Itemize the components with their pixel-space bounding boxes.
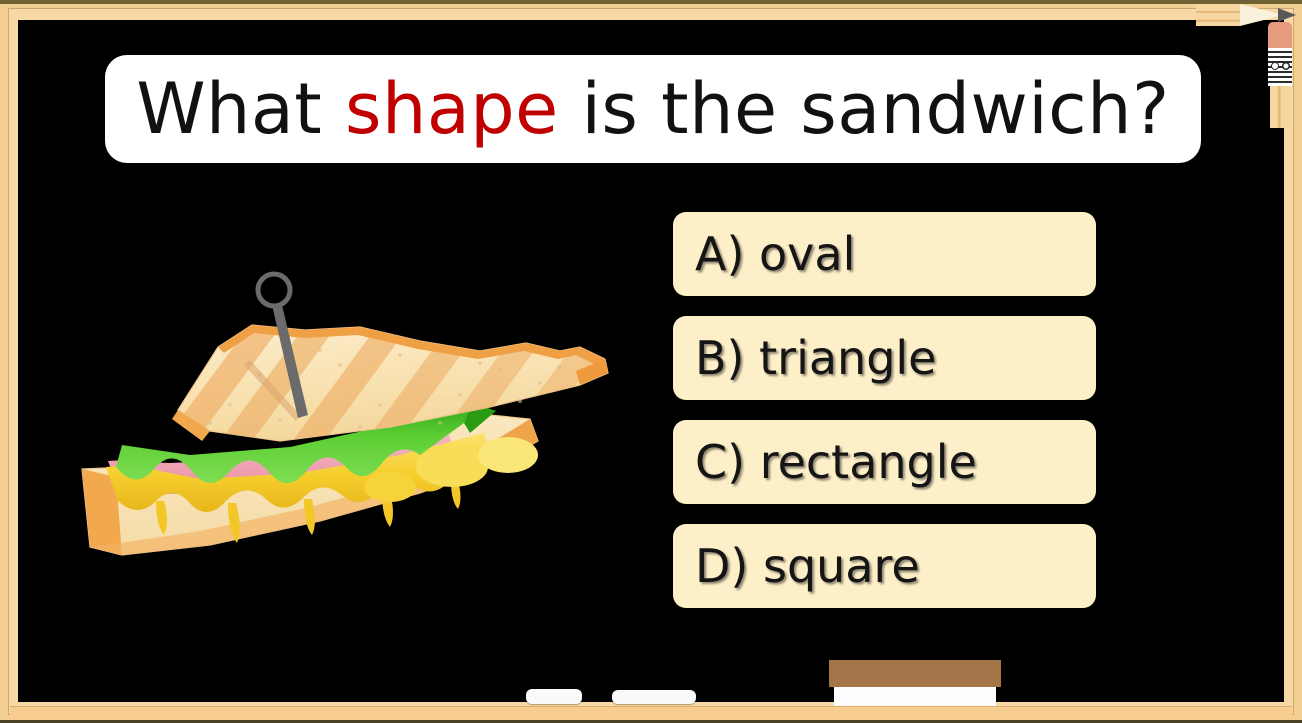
answer-option-c[interactable]: C) rectangle: [673, 420, 1096, 504]
answer-option-b-label: B) triangle: [695, 335, 936, 381]
frame-top-edge: [0, 0, 1302, 4]
board-eraser[interactable]: [829, 660, 1001, 706]
pencil-graphite-tip: [1278, 8, 1296, 22]
chalk-ledge: [10, 706, 1292, 720]
answer-option-c-label: C) rectangle: [695, 439, 977, 485]
question-text: What shape is the sandwich?: [136, 74, 1169, 144]
answer-option-b[interactable]: B) triangle: [673, 316, 1096, 400]
pencil-barrel: [1196, 4, 1240, 26]
eraser-wood-block: [829, 660, 1001, 687]
quiz-slide: What shape is the sandwich?: [0, 0, 1302, 723]
sandwich-illustration: [60, 255, 650, 565]
answer-options-list: A) oval B) triangle C) rectangle D) squa…: [673, 212, 1096, 608]
question-banner: What shape is the sandwich?: [105, 55, 1201, 163]
answer-option-d[interactable]: D) square: [673, 524, 1096, 608]
eraser-felt: [834, 685, 996, 706]
question-text-before: What: [136, 68, 345, 150]
question-highlight-word: shape: [345, 68, 559, 150]
pencil-eraser: [1268, 22, 1292, 48]
answer-option-a[interactable]: A) oval: [673, 212, 1096, 296]
answer-option-d-label: D) square: [695, 543, 920, 589]
chalk-stick-2[interactable]: [612, 690, 696, 704]
pencil-ferrule: [1268, 48, 1292, 86]
pencil-barrel: [1270, 86, 1290, 128]
pencil-vertical-icon: [1268, 22, 1292, 128]
answer-option-a-label: A) oval: [695, 231, 855, 277]
question-text-after: is the sandwich?: [559, 68, 1170, 150]
chalk-stick-1[interactable]: [526, 689, 582, 704]
